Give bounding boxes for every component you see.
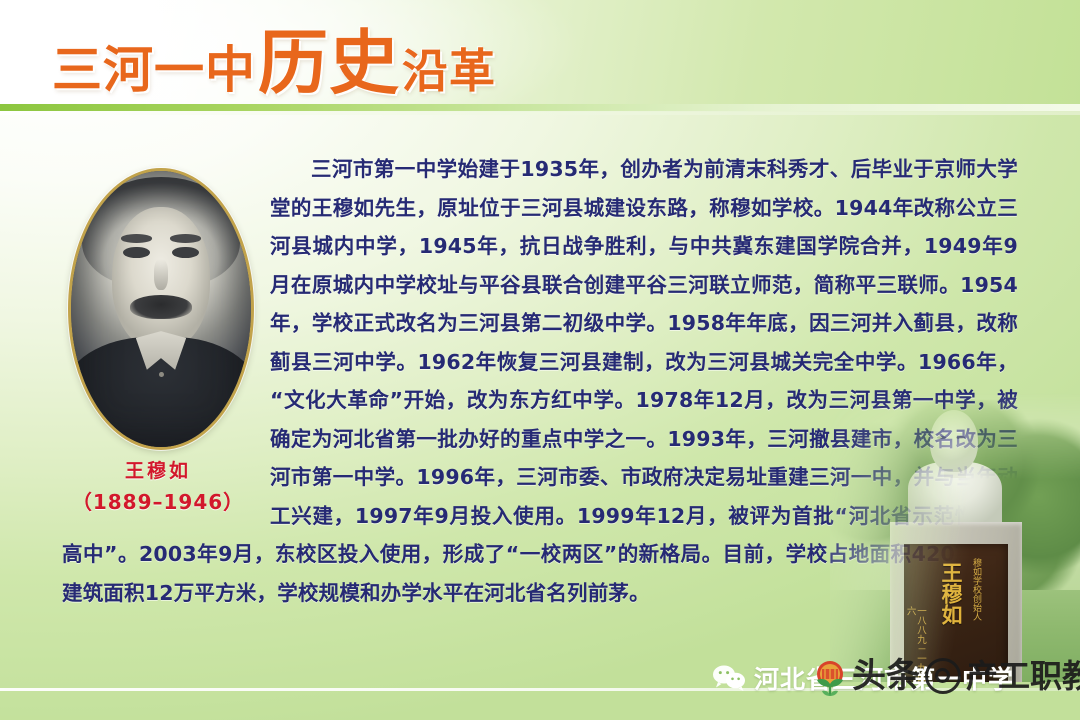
- page-title-emphasis: 历史: [258, 28, 400, 98]
- founder-statue-photo: 穆如学校创始人 王穆如 一八八九－一九四六: [830, 392, 1080, 682]
- wechat-icon: [712, 664, 746, 692]
- portrait-caption-name: 王穆如: [60, 456, 256, 483]
- watermark-source: 头条: [852, 659, 920, 693]
- at-circle-icon: [925, 658, 961, 694]
- watermark-account: 产工职教: [966, 660, 1080, 692]
- page-title: 三河一中 历史 沿革: [52, 28, 496, 98]
- statue-photo-fade: [830, 392, 1080, 682]
- portrait-caption-dates: （1889–1946）: [54, 486, 262, 515]
- header-divider-highlight: [0, 111, 1080, 115]
- portrait-vignette: [71, 171, 251, 447]
- founder-portrait-photo: [68, 168, 254, 450]
- page-title-suffix: 沿革: [402, 48, 496, 94]
- page-header: 三河一中 历史 沿革: [0, 0, 1080, 112]
- founder-portrait-block: 王穆如 （1889–1946）: [60, 168, 256, 460]
- poster-canvas: 三河一中 历史 沿革 三河市第一中学始建于1935年，创办者为前清末科秀才、后毕…: [0, 0, 1080, 720]
- school-emblem-logo: [808, 657, 852, 703]
- watermark: 头条 产工职教: [852, 658, 1080, 694]
- page-title-prefix: 三河一中: [52, 45, 256, 95]
- header-divider-rule: [0, 104, 1080, 111]
